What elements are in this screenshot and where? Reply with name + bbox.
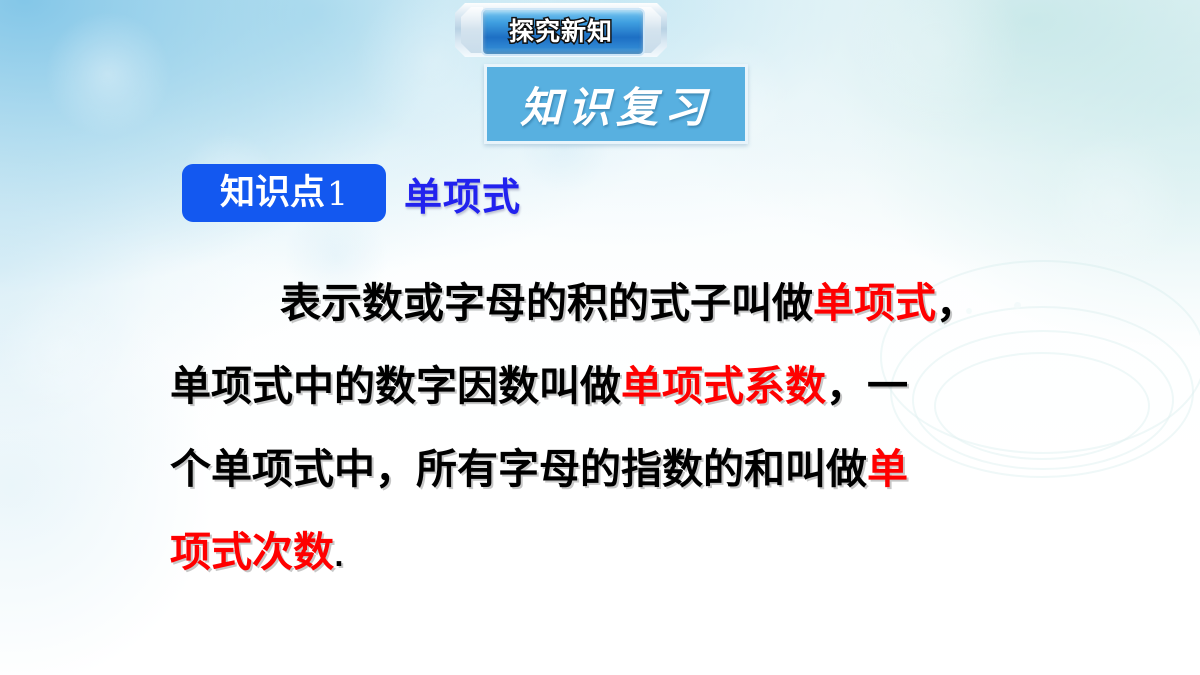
- plain-text: 个单项式中，所有字母的指数的和叫做: [170, 445, 867, 493]
- plain-text: 表示数或字母的积的式子叫做: [280, 279, 813, 327]
- definition-line: 项式次数.: [170, 511, 1060, 600]
- knowledge-point-number: 1: [325, 174, 348, 213]
- tech-badge-label: 探究新知: [481, 8, 641, 52]
- knowledge-point-badge: 知识点1: [182, 164, 386, 222]
- knowledge-point-label: 知识点: [220, 176, 325, 211]
- plain-text: ，: [936, 279, 977, 327]
- plain-text: ，一: [826, 362, 908, 410]
- definition-line: 单项式中的数字因数叫做单项式系数，一: [170, 345, 1060, 428]
- highlighted-term: 单: [867, 445, 908, 493]
- highlighted-term: 单项式系数: [621, 362, 826, 410]
- plain-text: .: [334, 543, 344, 573]
- definition-line: 个单项式中，所有字母的指数的和叫做单: [170, 428, 1060, 511]
- slide-canvas: 探究新知 知识复习 知识点1 单项式 表示数或字母的积的式子叫做单项式，单项式中…: [0, 0, 1200, 675]
- knowledge-point-topic: 单项式: [404, 166, 521, 221]
- highlighted-term: 单项式: [813, 279, 936, 327]
- highlighted-term: 项式次数: [170, 528, 334, 576]
- page-title: 知识复习: [487, 67, 745, 141]
- definition-paragraph: 表示数或字母的积的式子叫做单项式，单项式中的数字因数叫做单项式系数，一个单项式中…: [170, 262, 1060, 600]
- section-badge-explore-new-knowledge: 探究新知: [455, 3, 667, 57]
- knowledge-point-heading: 知识点1 单项式: [182, 164, 521, 222]
- plain-text: 单项式中的数字因数叫做: [170, 362, 621, 410]
- definition-line: 表示数或字母的积的式子叫做单项式，: [170, 262, 1060, 345]
- slide-title-box: 知识复习: [484, 64, 748, 144]
